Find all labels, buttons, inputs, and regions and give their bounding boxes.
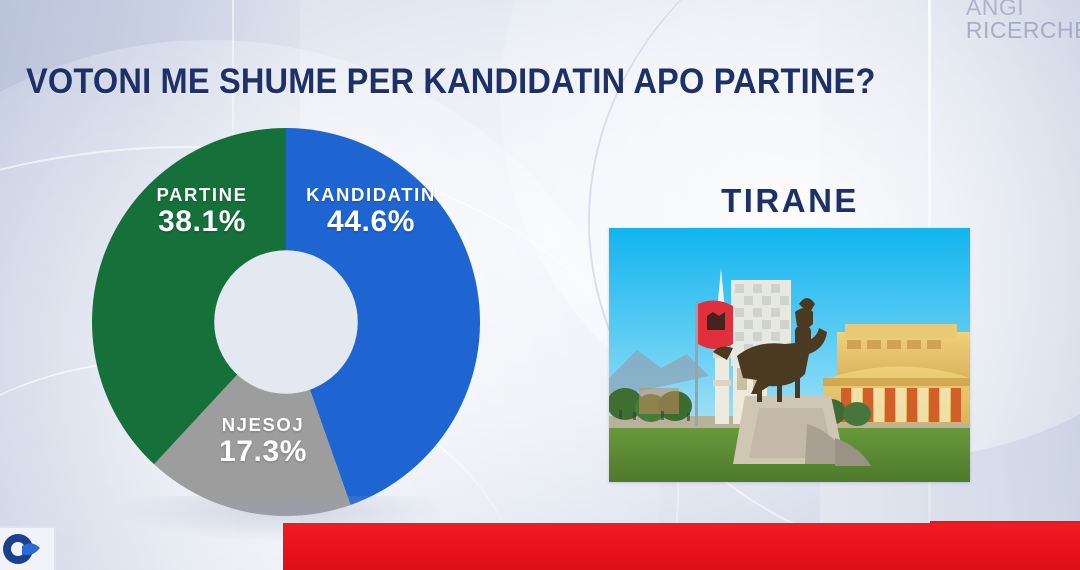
city-title: TIRANE xyxy=(609,182,971,220)
donut-center-hole xyxy=(214,250,358,394)
broadcast-graphic-screen: ANGI RICERCHE VOTONI ME SHUME PER KANDID… xyxy=(0,0,1080,570)
channel-logo-icon xyxy=(0,528,50,570)
lower-third-red-bar xyxy=(283,523,1080,570)
channel-logo-bug xyxy=(0,526,56,570)
donut-chart: KANDIDATIN 44.6% PARTINE 38.1% NJESOJ 17… xyxy=(92,128,480,516)
watermark-line-two: RICERCHE xyxy=(966,19,1080,42)
angi-ricerche-watermark: ANGI RICERCHE xyxy=(966,0,1080,43)
city-photo-tirana xyxy=(609,228,970,482)
donut-chart-svg xyxy=(92,128,480,516)
city-photo-illustration xyxy=(609,228,970,482)
headline-question: VOTONI ME SHUME PER KANDIDATIN APO PARTI… xyxy=(26,62,876,102)
